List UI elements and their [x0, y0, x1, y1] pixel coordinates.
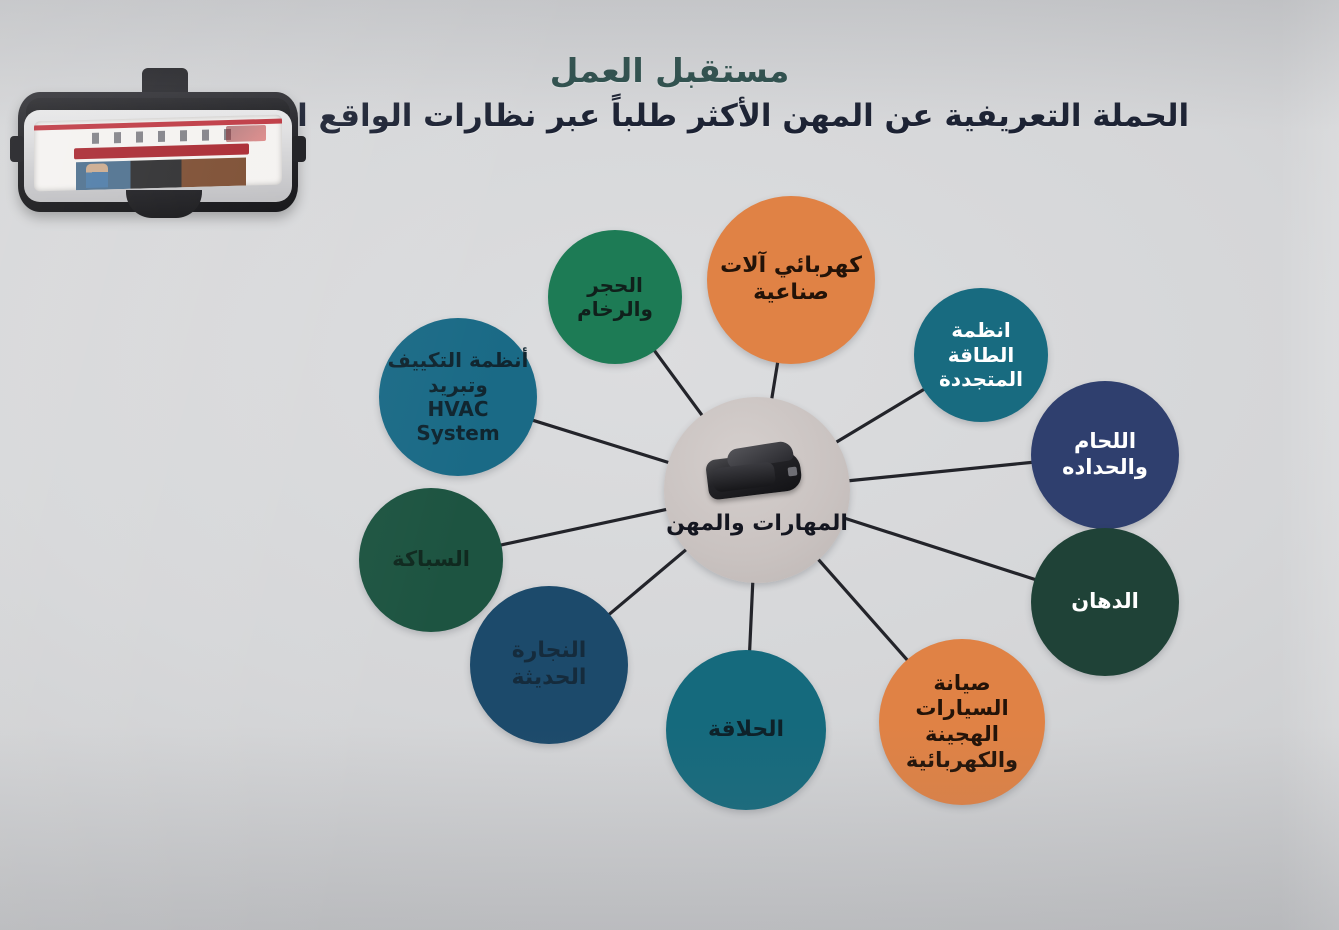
- node-plumbing[interactable]: السباكة: [359, 488, 503, 632]
- connector-hvac: [531, 420, 671, 463]
- node-label: السباكة: [384, 547, 478, 573]
- connector-renewable-energy: [835, 388, 926, 443]
- connector-barbering: [750, 581, 753, 653]
- node-label: صيانة السياراتالهجينةوالكهربائية: [879, 671, 1045, 773]
- node-label: الدهان: [1063, 589, 1147, 615]
- node-label: انظمة الطاقةالمتجددة: [914, 318, 1048, 391]
- node-label: الحلاقة: [700, 717, 792, 744]
- node-painting[interactable]: الدهان: [1031, 528, 1179, 676]
- node-industrial-electrician[interactable]: كهربائي آلاتصناعية: [707, 196, 875, 364]
- vr-headset-icon: [701, 443, 813, 501]
- connector-hybrid-electric-car-maintenance: [817, 558, 909, 662]
- node-label: النجارة الحديثة: [470, 638, 628, 692]
- connector-plumbing: [498, 509, 668, 545]
- node-hvac[interactable]: أنظمة التكييفوتبريدHVAC System: [379, 318, 537, 476]
- node-label: الحجروالرخام: [569, 273, 661, 322]
- poster-page: مستقبل العمل الحملة التعريفية عن المهن ا…: [0, 0, 1339, 930]
- node-label: كهربائي آلاتصناعية: [712, 253, 870, 307]
- node-stone-marble[interactable]: الحجروالرخام: [548, 230, 682, 364]
- hub-label: المهارات والمهن: [666, 511, 848, 538]
- connector-welding-blacksmithing: [848, 462, 1035, 481]
- skills-and-trades-diagram: المهارات والمهن الحجروالرخامكهربائي آلات…: [0, 0, 1339, 930]
- connector-painting: [844, 518, 1038, 580]
- connector-industrial-electrician: [772, 360, 779, 400]
- node-label: أنظمة التكييفوتبريدHVAC System: [379, 348, 537, 446]
- node-hybrid-electric-car-maintenance[interactable]: صيانة السياراتالهجينةوالكهربائية: [879, 639, 1045, 805]
- node-welding-blacksmithing[interactable]: اللحام والحداده: [1031, 381, 1179, 529]
- connector-modern-carpentry: [607, 549, 687, 616]
- node-label: اللحام والحداده: [1031, 429, 1179, 480]
- connector-stone-marble: [653, 349, 703, 417]
- node-modern-carpentry[interactable]: النجارة الحديثة: [470, 586, 628, 744]
- node-barbering[interactable]: الحلاقة: [666, 650, 826, 810]
- node-renewable-energy[interactable]: انظمة الطاقةالمتجددة: [914, 288, 1048, 422]
- hub-node[interactable]: المهارات والمهن: [664, 397, 850, 583]
